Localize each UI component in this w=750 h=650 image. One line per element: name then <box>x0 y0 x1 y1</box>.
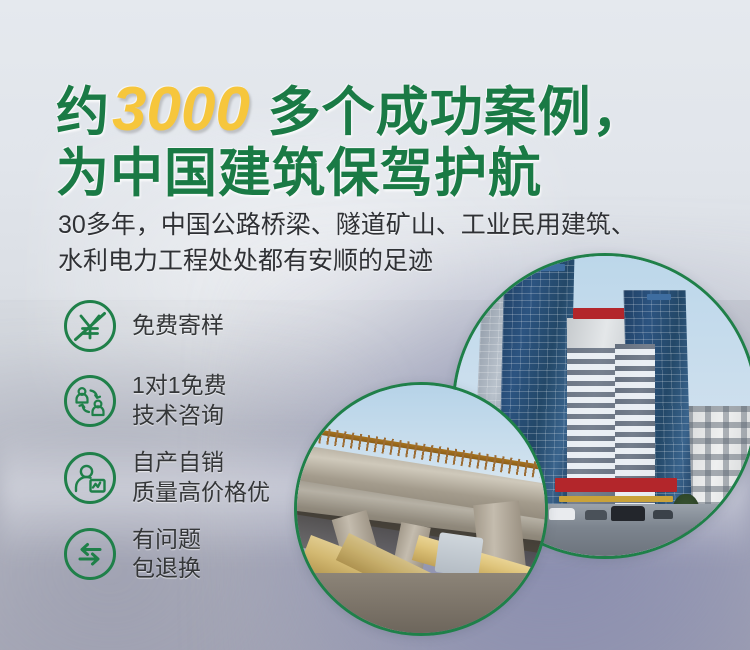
tower-left-cap <box>539 264 565 271</box>
feature-item-return[interactable]: 有问题 包退换 <box>62 525 270 585</box>
feature-label-line-1: 有问题 <box>132 525 201 555</box>
tower-center-red-sign <box>573 308 629 319</box>
podium-red-sign <box>555 478 677 492</box>
headline-line-1: 约3000 多个成功案例， <box>56 78 716 141</box>
bridge-photo <box>294 382 548 636</box>
feature-label-consult: 1对1免费 技术咨询 <box>132 371 227 431</box>
feature-label-line-1: 自产自销 <box>132 448 270 478</box>
feature-list: 免费寄样 1对1免费 技术咨询 <box>62 298 270 584</box>
headline-line-2: 为中国建筑保驾护航 <box>56 147 716 201</box>
feature-label-line-2: 质量高价格优 <box>132 478 270 508</box>
pier-gap-opening <box>434 532 483 578</box>
ground-rubble <box>297 573 545 633</box>
feature-label-free-sample: 免费寄样 <box>132 311 224 341</box>
exchange-arrows-icon <box>62 526 118 582</box>
banner-root: 约3000 多个成功案例， 为中国建筑保驾护航 30多年，中国公路桥梁、隧道矿山… <box>0 0 750 650</box>
no-fee-yuan-icon <box>62 298 118 354</box>
tower-right-cap <box>647 294 671 300</box>
car <box>653 510 673 519</box>
feature-item-consult[interactable]: 1对1免费 技术咨询 <box>62 371 270 431</box>
feature-label-quality: 自产自销 质量高价格优 <box>132 448 270 508</box>
headline-number: 3000 <box>110 75 252 144</box>
bridge-photo-image <box>297 385 545 633</box>
feature-label-return: 有问题 包退换 <box>132 525 201 585</box>
feature-label-line-2: 包退换 <box>132 554 201 584</box>
feature-label-line-1: 免费寄样 <box>132 311 224 341</box>
car <box>549 508 575 520</box>
car <box>611 506 645 521</box>
feature-label-line-2: 技术咨询 <box>132 401 227 431</box>
headline-suffix: 多个成功案例， <box>252 83 646 142</box>
headline-prefix: 约 <box>56 83 110 142</box>
feature-item-free-sample[interactable]: 免费寄样 <box>62 298 270 354</box>
person-chart-icon <box>62 450 118 506</box>
one-to-one-consult-icon <box>62 373 118 429</box>
feature-label-line-1: 1对1免费 <box>132 371 227 401</box>
headline: 约3000 多个成功案例， 为中国建筑保驾护航 <box>56 78 716 201</box>
podium-gold-sign <box>559 496 673 502</box>
feature-item-quality[interactable]: 自产自销 质量高价格优 <box>62 448 270 508</box>
car <box>585 510 607 520</box>
subtitle-line-1: 30多年，中国公路桥梁、隧道矿山、工业民用建筑、 <box>58 207 728 243</box>
